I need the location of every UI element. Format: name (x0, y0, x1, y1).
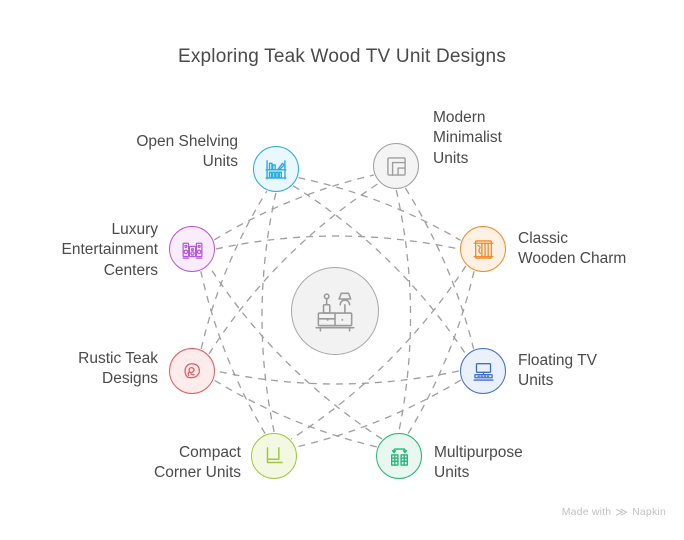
label-open-shelving-units: Open Shelving Units (102, 132, 238, 173)
label-floating-tv-units: Floating TV Units (518, 351, 658, 392)
bookshelf-icon (263, 156, 289, 182)
diagram-canvas: Exploring Teak Wood TV Unit Designs (0, 0, 684, 540)
nested-squares-icon (384, 154, 409, 179)
label-multipurpose-units: Multipurpose Units (434, 443, 574, 484)
label-modern-minimalist-units: Modern Minimalist Units (433, 108, 563, 169)
wall-mounted-tv-icon (471, 359, 496, 384)
tv-console-lamp-icon (310, 286, 360, 336)
node-luxury-entertainment-centers[interactable] (169, 226, 215, 272)
node-open-shelving-units[interactable] (253, 146, 299, 192)
home-theater-speakers-icon (180, 237, 205, 262)
wood-panel-icon (471, 237, 496, 262)
node-multipurpose-units[interactable] (376, 433, 422, 479)
node-rustic-teak-designs[interactable] (169, 348, 215, 394)
node-floating-tv-units[interactable] (460, 348, 506, 394)
page-title: Exploring Teak Wood TV Unit Designs (0, 46, 684, 68)
label-rustic-teak-designs: Rustic Teak Designs (30, 349, 158, 390)
modular-cabinet-icon (387, 444, 412, 469)
watermark-brand: Napkin (632, 506, 666, 518)
label-classic-wooden-charm: Classic Wooden Charm (518, 229, 668, 270)
label-compact-corner-units: Compact Corner Units (106, 443, 241, 484)
wood-grain-knot-icon (180, 359, 205, 384)
napkin-logo-icon: ≫ (615, 506, 628, 518)
napkin-watermark: Made with ≫ Napkin (562, 506, 666, 518)
corner-shape-icon (261, 443, 287, 469)
hub-node[interactable] (291, 267, 379, 355)
label-luxury-entertainment-centers: Luxury Entertainment Centers (20, 220, 158, 281)
node-modern-minimalist-units[interactable] (373, 143, 419, 189)
watermark-prefix: Made with (562, 506, 612, 518)
node-compact-corner-units[interactable] (251, 433, 297, 479)
node-classic-wooden-charm[interactable] (460, 226, 506, 272)
